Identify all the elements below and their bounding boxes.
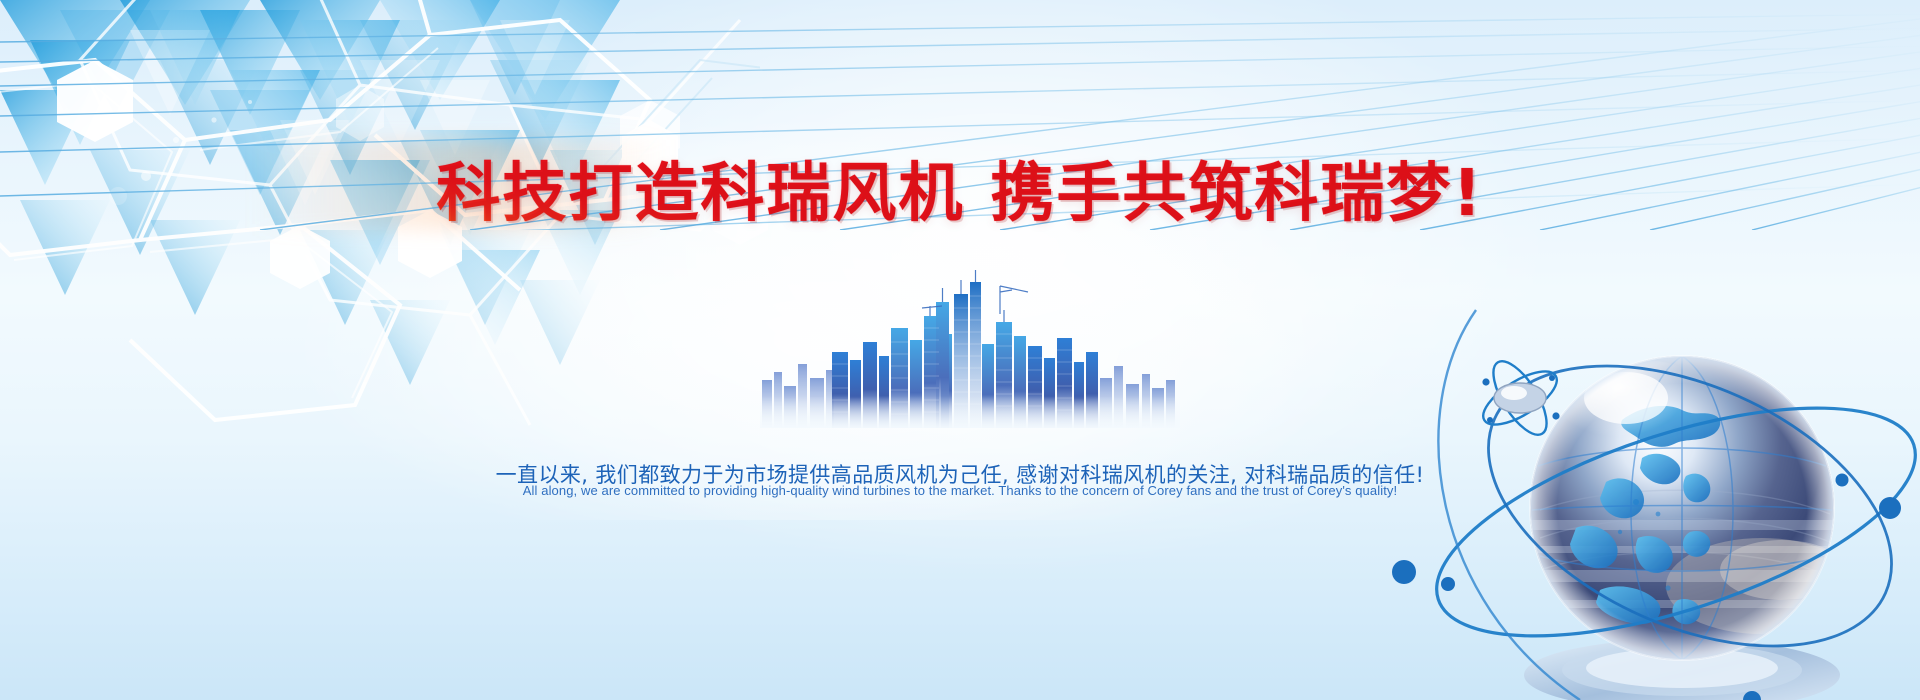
- hero-banner: 科技打造科瑞风机携手共筑科瑞梦!: [0, 0, 1920, 700]
- city-skyline-silhouette: [760, 268, 1180, 428]
- headline-part-2: 携手共筑科瑞梦!: [990, 157, 1483, 231]
- page-title: 科技打造科瑞风机携手共筑科瑞梦!: [0, 162, 1920, 226]
- headline-part-1: 科技打造科瑞风机: [436, 157, 964, 231]
- chrome-globe-graphic: [1390, 270, 1920, 700]
